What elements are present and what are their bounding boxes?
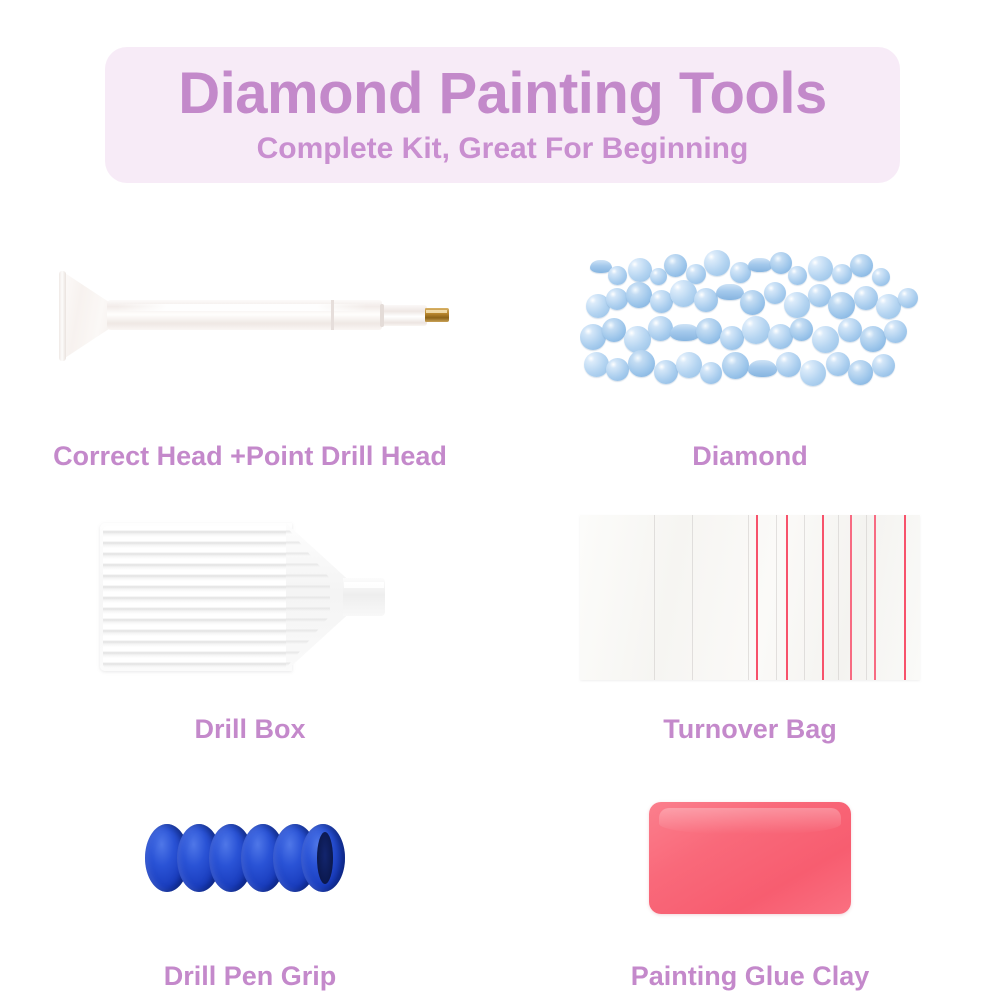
correct-head-edge: [59, 271, 66, 361]
drill-pen-tool-illustration: [47, 267, 453, 367]
diamond-drill: [602, 318, 626, 342]
page-title: Diamond Painting Tools: [178, 64, 826, 125]
diamond-drill: [584, 352, 609, 377]
diamond-drill: [764, 282, 786, 304]
turnover-bag-stripe: [904, 515, 906, 680]
diamond-drill: [654, 360, 678, 384]
diamond-drills-pile-illustration: [580, 242, 920, 392]
product-image-painting-glue-clay: [500, 752, 1000, 963]
product-label-turnover-bag: Turnover Bag: [663, 716, 837, 743]
product-image-correct-head-point-drill-head: [0, 200, 500, 433]
pen-barrel-highlight: [117, 304, 367, 311]
product-label-painting-glue-clay: Painting Glue Clay: [631, 963, 870, 990]
pen-grip-end-cap: [317, 832, 333, 884]
diamond-drill: [860, 326, 886, 352]
turnover-bag-fold: [866, 515, 867, 680]
diamond-drill: [700, 362, 722, 384]
diamond-drill: [784, 292, 810, 318]
diamond-drill: [628, 350, 655, 377]
diamond-drill: [872, 354, 895, 377]
diamond-drill: [848, 360, 873, 385]
turnover-bag-fold: [804, 515, 805, 680]
product-label-diamond: Diamond: [692, 443, 808, 470]
product-image-drill-pen-grip: [0, 752, 500, 963]
diamond-drill: [670, 280, 697, 307]
diamond-drill: [898, 288, 918, 308]
diamond-drill: [624, 326, 651, 353]
product-cell-drill-pen-grip: Drill Pen Grip: [0, 752, 500, 990]
diamond-drill: [800, 360, 826, 386]
diamond-drill: [742, 316, 770, 344]
glue-clay-illustration: [649, 802, 851, 914]
turnover-bag-fold: [776, 515, 777, 680]
product-cell-drill-box: Drill Box: [0, 478, 500, 743]
diamond-drill: [854, 286, 878, 310]
diamond-drill: [664, 254, 687, 277]
diamond-drill: [722, 352, 749, 379]
diamond-drill: [720, 326, 744, 350]
pen-collar: [381, 305, 427, 326]
drill-pen-grip-illustration: [145, 818, 355, 898]
product-label-drill-pen-grip: Drill Pen Grip: [164, 963, 337, 990]
turnover-bag-fold: [654, 515, 655, 680]
point-drill-head-highlight: [426, 310, 447, 313]
turnover-bag-stripe: [756, 515, 758, 680]
diamond-drill: [606, 358, 629, 381]
product-image-diamond: [500, 200, 1000, 433]
diamond-drill: [606, 288, 628, 310]
pen-seam: [331, 300, 334, 330]
diamond-drill: [626, 282, 652, 308]
diamond-drill: [872, 268, 890, 286]
drill-tray-spout-highlight: [344, 582, 384, 588]
pen-collar-ring: [380, 304, 384, 327]
drill-tray-ribs: [103, 526, 289, 668]
turnover-bag-fold: [692, 515, 693, 680]
diamond-drill: [826, 352, 850, 376]
diamond-drill: [828, 292, 855, 319]
diamond-drill: [788, 266, 807, 285]
turnover-bag-illustration: [580, 515, 920, 680]
product-image-turnover-bag: [500, 478, 1000, 716]
diamond-drill: [884, 320, 907, 343]
diamond-drill: [696, 318, 722, 344]
diamond-drill: [838, 318, 862, 342]
product-cell-correct-head-point-drill-head: Correct Head +Point Drill Head: [0, 200, 500, 470]
product-cell-turnover-bag: Turnover Bag: [500, 478, 1000, 743]
diamond-drill: [748, 258, 772, 272]
page-subtitle: Complete Kit, Great For Beginning: [257, 132, 749, 166]
diamond-drill: [716, 284, 744, 300]
diamond-drill: [776, 352, 801, 377]
drill-tray-illustration: [100, 507, 400, 687]
diamond-drill: [608, 266, 627, 285]
glue-clay-highlight: [659, 808, 841, 834]
diamond-drill: [694, 288, 718, 312]
diamond-drill: [832, 264, 852, 284]
turnover-bag-stripe: [822, 515, 824, 680]
diamond-drill: [704, 250, 730, 276]
diamond-drill: [748, 360, 777, 377]
turnover-bag-stripe: [786, 515, 788, 680]
product-cell-diamond: Diamond: [500, 200, 1000, 470]
correct-head-flare: [61, 271, 113, 361]
diamond-drill: [628, 258, 652, 282]
header-banner: Diamond Painting Tools Complete Kit, Gre…: [105, 47, 900, 183]
turnover-bag-stripe: [850, 515, 852, 680]
diamond-drill: [812, 326, 839, 353]
product-label-drill-box: Drill Box: [194, 716, 305, 743]
turnover-bag-fold: [748, 515, 749, 680]
turnover-bag-body: [580, 515, 920, 680]
diamond-drill: [790, 318, 813, 341]
turnover-bag-fold: [838, 515, 839, 680]
product-label-correct-head-point-drill-head: Correct Head +Point Drill Head: [53, 443, 447, 470]
diamond-drill: [808, 256, 833, 281]
diamond-drill: [676, 352, 702, 378]
diamond-drill: [648, 316, 673, 341]
turnover-bag-stripe: [874, 515, 876, 680]
product-image-drill-box: [0, 478, 500, 716]
diamond-drill: [850, 254, 873, 277]
diamond-drill: [740, 290, 765, 315]
product-cell-painting-glue-clay: Painting Glue Clay: [500, 752, 1000, 990]
product-grid: Correct Head +Point Drill Head: [0, 200, 1000, 990]
